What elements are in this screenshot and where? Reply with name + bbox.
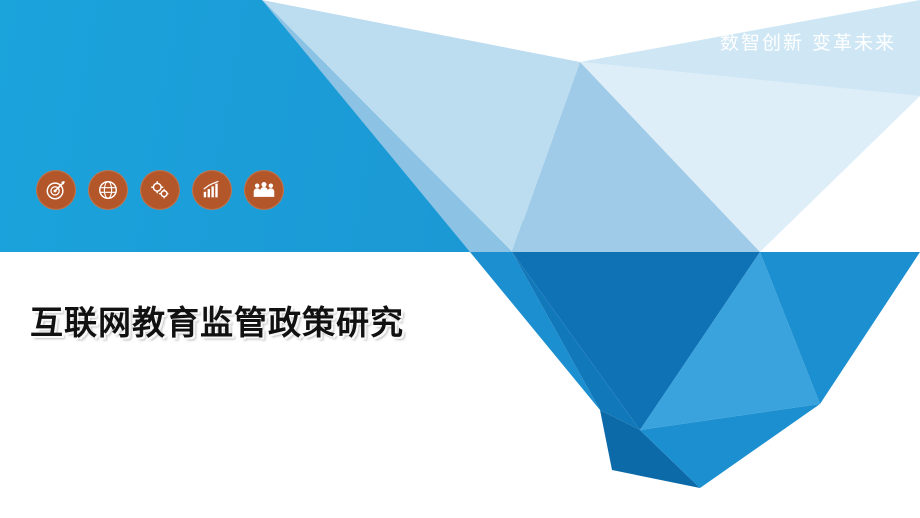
slide-canvas: 数智创新 变革未来 (0, 0, 920, 518)
tagline: 数智创新 变革未来 (720, 28, 896, 55)
icon-row (36, 170, 284, 210)
target-arrow-icon (36, 170, 76, 210)
low-poly-decoration (0, 0, 920, 518)
people-group-icon (244, 170, 284, 210)
gears-icon (140, 170, 180, 210)
page-title: 互联网教育监管政策研究 (30, 296, 404, 344)
globe-icon (88, 170, 128, 210)
bar-chart-icon (192, 170, 232, 210)
